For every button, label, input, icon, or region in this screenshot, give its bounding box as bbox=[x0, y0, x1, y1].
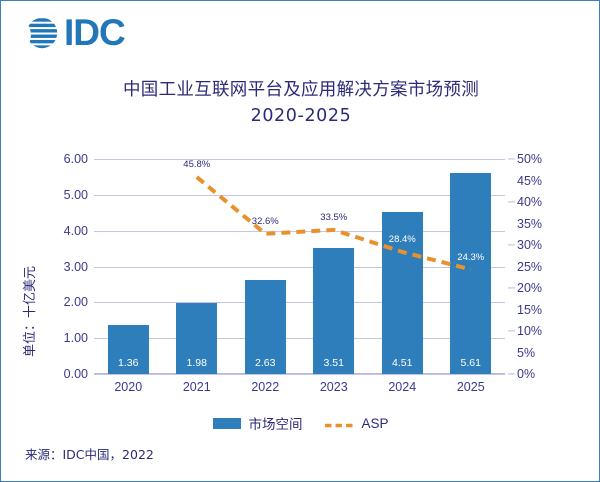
legend-bar-swatch-icon bbox=[213, 418, 241, 429]
bar-value-label: 3.51 bbox=[313, 357, 354, 369]
y-tick-right: 5% bbox=[517, 346, 535, 360]
y-tick-mark-right bbox=[508, 330, 515, 331]
chart-page: IDC 中国工业互联网平台及应用解决方案市场预测 2020-2025 单位：十亿… bbox=[0, 0, 600, 482]
asp-point-label-2023: 33.5% bbox=[320, 212, 347, 223]
y-tick-right: 15% bbox=[517, 303, 542, 317]
x-axis-labels: 202020212022202320242025 bbox=[94, 380, 505, 400]
y-tick-right: 35% bbox=[517, 217, 542, 231]
asp-point-label-2024: 28.4% bbox=[389, 234, 416, 245]
legend-item-market-size[interactable]: 市场空间 bbox=[213, 413, 302, 433]
gridline bbox=[94, 338, 505, 339]
y-tick-left: 1.00 bbox=[64, 331, 88, 345]
gridline bbox=[94, 267, 505, 268]
y-tick-right: 20% bbox=[517, 281, 542, 295]
asp-point-label-2022: 32.6% bbox=[252, 216, 279, 227]
x-tick-2021: 2021 bbox=[183, 380, 211, 394]
idc-logo-text: IDC bbox=[64, 14, 125, 52]
y-tick-left: 0.00 bbox=[64, 367, 88, 381]
y-axis-left: 6.005.004.003.002.001.000.00 bbox=[34, 159, 88, 374]
y-tick-left: 5.00 bbox=[64, 188, 88, 202]
bar-value-label: 1.36 bbox=[108, 357, 149, 369]
plot-area: 1.361.982.633.514.515.6145.8%32.6%33.5%2… bbox=[94, 159, 505, 374]
y-tick-right: 30% bbox=[517, 238, 542, 252]
y-tick-right: 40% bbox=[517, 195, 542, 209]
legend-label-asp: ASP bbox=[361, 416, 388, 431]
bar-2025[interactable]: 5.61 bbox=[450, 173, 491, 374]
chart-title-line2: 2020-2025 bbox=[1, 103, 600, 129]
y-tick-mark-right bbox=[508, 287, 515, 288]
gridline bbox=[94, 302, 505, 303]
x-tick-2023: 2023 bbox=[320, 380, 348, 394]
y-tick-right: 0% bbox=[517, 367, 535, 381]
y-tick-mark-right bbox=[508, 158, 515, 159]
asp-point-label-2025: 24.3% bbox=[457, 252, 484, 263]
y-tick-right: 10% bbox=[517, 324, 542, 338]
chart-legend: 市场空间 ASP bbox=[1, 413, 600, 433]
bar-value-label: 1.98 bbox=[176, 357, 217, 369]
gridline bbox=[94, 195, 505, 196]
gridline bbox=[94, 374, 505, 375]
asp-point-label-2021: 45.8% bbox=[183, 159, 210, 170]
globe-icon bbox=[23, 14, 61, 52]
y-tick-mark-right bbox=[508, 244, 515, 245]
x-tick-2025: 2025 bbox=[457, 380, 485, 394]
idc-logo: IDC bbox=[23, 14, 125, 52]
bar-2022[interactable]: 2.63 bbox=[245, 280, 286, 374]
legend-dashed-line-icon bbox=[324, 418, 354, 429]
bar-2021[interactable]: 1.98 bbox=[176, 303, 217, 374]
bar-2023[interactable]: 3.51 bbox=[313, 248, 354, 374]
y-tick-right: 25% bbox=[517, 260, 542, 274]
chart-title-line1: 中国工业互联网平台及应用解决方案市场预测 bbox=[123, 80, 479, 100]
y-tick-mark-right bbox=[508, 201, 515, 202]
bar-2020[interactable]: 1.36 bbox=[108, 325, 149, 374]
gridline bbox=[94, 159, 505, 160]
gridline bbox=[94, 231, 505, 232]
y-tick-left: 3.00 bbox=[64, 260, 88, 274]
legend-item-asp[interactable]: ASP bbox=[324, 416, 388, 431]
x-tick-2020: 2020 bbox=[114, 380, 142, 394]
bar-value-label: 2.63 bbox=[245, 357, 286, 369]
y-axis-right: 50%45%40%35%30%25%20%15%10%5%0% bbox=[517, 159, 563, 374]
chart-title: 中国工业互联网平台及应用解决方案市场预测 2020-2025 bbox=[1, 77, 600, 129]
legend-label-market-size: 市场空间 bbox=[248, 413, 302, 433]
y-tick-left: 4.00 bbox=[64, 224, 88, 238]
y-tick-right: 50% bbox=[517, 152, 542, 166]
x-tick-2022: 2022 bbox=[251, 380, 279, 394]
bar-value-label: 4.51 bbox=[382, 357, 423, 369]
source-note: 来源：IDC中国，2022 bbox=[25, 444, 154, 463]
y-tick-left: 6.00 bbox=[64, 152, 88, 166]
y-tick-right: 45% bbox=[517, 174, 542, 188]
y-tick-left: 2.00 bbox=[64, 295, 88, 309]
bar-value-label: 5.61 bbox=[450, 357, 491, 369]
y-tick-mark-right bbox=[508, 373, 515, 374]
x-tick-2024: 2024 bbox=[388, 380, 416, 394]
